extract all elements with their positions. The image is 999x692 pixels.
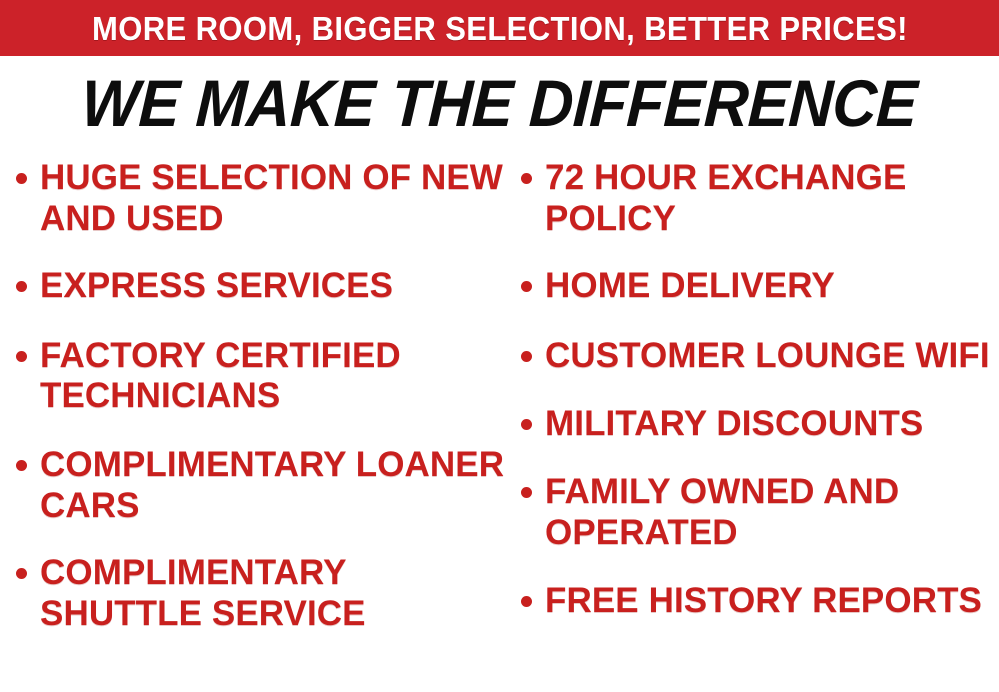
list-item-label: EXPRESS SERVICES <box>40 266 505 307</box>
bullet-dot-icon <box>521 596 532 607</box>
benefits-column-right: 72 HOUR EXCHANGE POLICY HOME DELIVERY CU… <box>505 158 999 692</box>
bullet-dot-icon <box>16 173 27 184</box>
list-item: FACTORY CERTIFIED TECHNICIANS <box>16 336 505 417</box>
list-item-label: CUSTOMER LOUNGE WIFI <box>545 336 999 377</box>
bullet-dot-icon <box>521 419 532 430</box>
list-item-label: COMPLIMENTARY SHUTTLE SERVICE <box>40 553 505 634</box>
top-banner: MORE ROOM, BIGGER SELECTION, BETTER PRIC… <box>0 0 999 56</box>
bullet-dot-icon <box>521 351 532 362</box>
list-item: 72 HOUR EXCHANGE POLICY <box>521 158 999 239</box>
list-item: HUGE SELECTION OF NEW AND USED <box>16 158 505 239</box>
list-item: FAMILY OWNED AND OPERATED <box>521 472 999 553</box>
list-item-label: COMPLIMENTARY LOANER CARS <box>40 445 505 526</box>
list-item: EXPRESS SERVICES <box>16 266 505 307</box>
bullet-dot-icon <box>521 487 532 498</box>
list-item: COMPLIMENTARY SHUTTLE SERVICE <box>16 553 505 634</box>
list-item-label: HUGE SELECTION OF NEW AND USED <box>40 158 505 239</box>
bullet-dot-icon <box>16 568 27 579</box>
advertisement-poster: MORE ROOM, BIGGER SELECTION, BETTER PRIC… <box>0 0 999 692</box>
list-item: MILITARY DISCOUNTS <box>521 404 999 445</box>
bullet-dot-icon <box>16 460 27 471</box>
bullet-dot-icon <box>16 281 27 292</box>
bullet-dot-icon <box>521 281 532 292</box>
list-item-label: MILITARY DISCOUNTS <box>545 404 999 445</box>
list-item: CUSTOMER LOUNGE WIFI <box>521 336 999 377</box>
list-item: COMPLIMENTARY LOANER CARS <box>16 445 505 526</box>
list-item: HOME DELIVERY <box>521 266 999 307</box>
list-item-label: FACTORY CERTIFIED TECHNICIANS <box>40 336 505 417</box>
list-item: FREE HISTORY REPORTS <box>521 581 999 622</box>
top-banner-text: MORE ROOM, BIGGER SELECTION, BETTER PRIC… <box>92 12 908 45</box>
list-item-label: FAMILY OWNED AND OPERATED <box>545 472 999 553</box>
list-item-label: 72 HOUR EXCHANGE POLICY <box>545 158 999 239</box>
bullet-dot-icon <box>16 351 27 362</box>
page-title: WE MAKE THE DIFFERENCE <box>0 70 999 137</box>
benefits-column-left: HUGE SELECTION OF NEW AND USED EXPRESS S… <box>0 158 505 692</box>
headline-text: WE MAKE THE DIFFERENCE <box>80 70 919 137</box>
benefits-columns: HUGE SELECTION OF NEW AND USED EXPRESS S… <box>0 158 999 692</box>
bullet-dot-icon <box>521 173 532 184</box>
list-item-label: FREE HISTORY REPORTS <box>545 581 999 622</box>
list-item-label: HOME DELIVERY <box>545 266 999 307</box>
